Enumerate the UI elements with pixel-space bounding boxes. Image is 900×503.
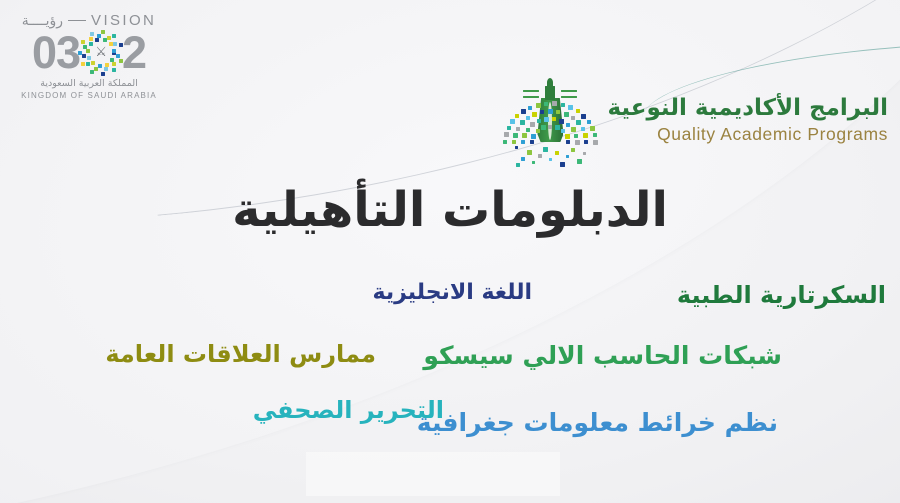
vision-2030-logo: VISION رؤيــــة 2 ⚔ 3 0 المملكة العربية … bbox=[14, 12, 164, 100]
vision-digit-0: 0 bbox=[32, 31, 56, 75]
program-item-secretary: السكرتارية الطبية bbox=[677, 281, 886, 310]
program-item-journalism: التحرير الصحفي bbox=[253, 396, 444, 425]
poster-canvas: VISION رؤيــــة 2 ⚔ 3 0 المملكة العربية … bbox=[0, 0, 900, 503]
minaret-mosaic-icon bbox=[501, 72, 597, 168]
vision-digit-3: 3 bbox=[56, 31, 80, 75]
program-item-cisco: شبكات الحاسب الالي سيسكو bbox=[423, 341, 782, 371]
qap-text-block: البرامج الأكاديمية النوعية Quality Acade… bbox=[607, 94, 888, 146]
vision-kingdom-ar: المملكة العربية السعودية bbox=[14, 78, 164, 89]
program-item-english: اللغة الانجليزية bbox=[373, 280, 533, 306]
vision-divider-dash bbox=[68, 20, 86, 22]
vision-kingdom-en: KINGDOM OF SAUDI ARABIA bbox=[14, 91, 164, 100]
qap-title-en: Quality Academic Programs bbox=[607, 124, 888, 146]
faint-background-panel bbox=[306, 452, 560, 496]
vision-mosaic-emblem-icon: ⚔ bbox=[78, 30, 124, 76]
program-item-public-relations: ممارس العلاقات العامة bbox=[105, 340, 376, 369]
page-title: الدبلومات التأهيلية bbox=[0, 182, 900, 238]
program-item-gis: نظم خرائط معلومات جغرافية bbox=[417, 408, 778, 438]
vision-2030-numerals: 2 ⚔ 3 0 bbox=[14, 29, 164, 77]
quality-academic-programs-logo: البرامج الأكاديمية النوعية Quality Acade… bbox=[501, 72, 888, 168]
vision-digit-2: 2 bbox=[122, 31, 146, 75]
qap-title-ar: البرامج الأكاديمية النوعية bbox=[607, 94, 888, 123]
